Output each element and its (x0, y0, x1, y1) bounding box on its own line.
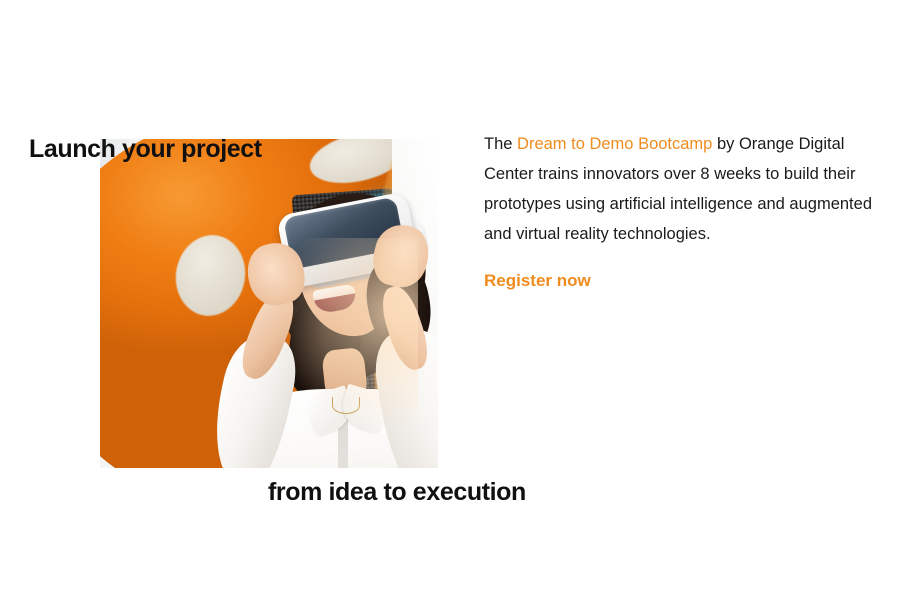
page-subtitle: from idea to execution (268, 480, 526, 505)
promo-description: The Dream to Demo Bootcamp by Orange Dig… (484, 129, 884, 249)
promo-copy-column: The Dream to Demo Bootcamp by Orange Dig… (484, 129, 884, 291)
person-vr-user (100, 139, 438, 468)
bootcamp-name: Dream to Demo Bootcamp (517, 135, 712, 153)
photo-scene (100, 139, 438, 468)
page-title: Launch your project (29, 137, 262, 162)
hero-image (100, 139, 438, 468)
necklace (332, 397, 360, 414)
register-now-link[interactable]: Register now (484, 271, 591, 291)
promo-banner: Launch your project (0, 0, 900, 600)
paragraph-lead: The (484, 135, 517, 153)
